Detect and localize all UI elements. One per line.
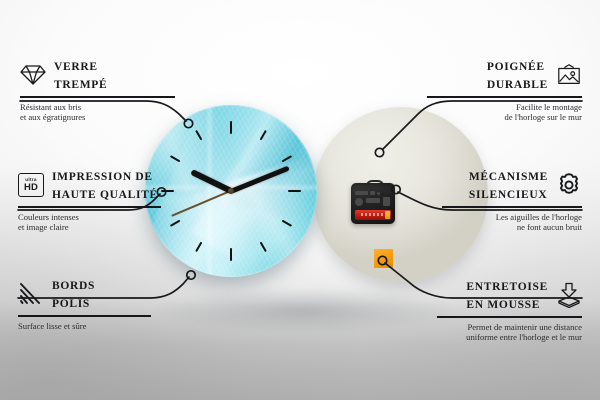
gear-icon — [556, 172, 582, 198]
callout-description: Surface lisse et sûre — [18, 321, 151, 332]
callout-description: Résistant aux bris et aux égratignures — [20, 102, 175, 123]
clock-mechanism — [351, 180, 395, 224]
callout-mecanisme-silencieux[interactable]: MÉCANISME SILENCIEUX Les aiguilles de l'… — [442, 167, 582, 233]
clock-tick — [161, 190, 231, 192]
callout-rule — [437, 316, 582, 318]
clock-tick — [230, 191, 232, 261]
foam-spacer — [374, 249, 393, 268]
diamond-icon — [20, 62, 46, 88]
mechanism-battery — [355, 210, 391, 220]
callout-description: Permet de maintenir une distance uniform… — [437, 322, 582, 343]
callout-rule — [442, 206, 582, 208]
callout-rule — [427, 96, 582, 98]
callout-description: Les aiguilles de l'horloge ne font aucun… — [442, 212, 582, 233]
callout-title: IMPRESSION DE HAUTE QUALITÉ — [52, 167, 158, 203]
mechanism-body — [351, 183, 395, 224]
callout-entretoise-en-mousse[interactable]: ENTRETOISE EN MOUSSE Permet de maintenir… — [437, 277, 582, 343]
callout-description: Couleurs intenses et image claire — [18, 212, 161, 233]
callout-title: MÉCANISME SILENCIEUX — [469, 167, 548, 203]
battery-label — [361, 213, 385, 216]
callout-header: ultra HD IMPRESSION DE HAUTE QUALITÉ — [18, 167, 161, 203]
mechanism-details — [355, 191, 391, 207]
callout-header: VERRE TREMPÉ — [20, 57, 175, 93]
callout-impression-haute-qualite[interactable]: ultra HD IMPRESSION DE HAUTE QUALITÉ Cou… — [18, 167, 161, 233]
infographic-canvas: VERRE TREMPÉ Résistant aux bris et aux é… — [0, 0, 600, 400]
clock-tick — [231, 190, 301, 192]
callout-header: BORDS POLIS — [18, 276, 151, 312]
callout-description: Facilite le montage de l'horloge sur le … — [427, 102, 582, 123]
clock-center-cap — [228, 188, 234, 194]
product-shadow — [150, 288, 460, 334]
clock-tick — [230, 121, 232, 191]
callout-rule — [20, 96, 175, 98]
picture-hanger-icon — [556, 62, 582, 88]
callout-rule — [18, 315, 151, 317]
callout-header: MÉCANISME SILENCIEUX — [442, 167, 582, 203]
callout-rule — [18, 206, 161, 208]
polished-edges-icon — [18, 281, 44, 307]
ultra-hd-icon: ultra HD — [18, 172, 44, 198]
callout-title: POIGNÉE DURABLE — [487, 57, 548, 93]
foam-spacer-icon — [556, 282, 582, 308]
callout-title: VERRE TREMPÉ — [54, 57, 107, 93]
callout-bords-polis[interactable]: BORDS POLIS Surface lisse et sûre — [18, 276, 151, 331]
battery-terminal — [385, 211, 390, 219]
callout-verre-trempe[interactable]: VERRE TREMPÉ Résistant aux bris et aux é… — [20, 57, 175, 123]
callout-header: POIGNÉE DURABLE — [427, 57, 582, 93]
callout-title: ENTRETOISE EN MOUSSE — [466, 277, 548, 313]
callout-header: ENTRETOISE EN MOUSSE — [437, 277, 582, 313]
callout-poignee-durable[interactable]: POIGNÉE DURABLE Facilite le montage de l… — [427, 57, 582, 123]
callout-title: BORDS POLIS — [52, 276, 95, 312]
clock-front-face — [145, 105, 317, 277]
